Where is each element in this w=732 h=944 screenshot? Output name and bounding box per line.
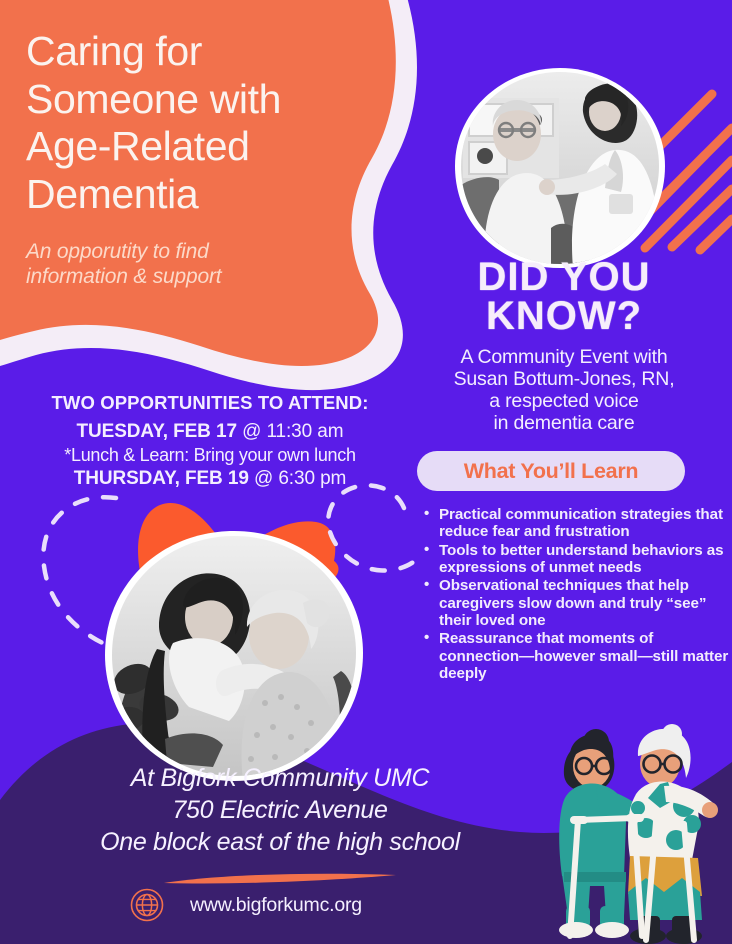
address-line-street: 750 Electric Avenue — [0, 794, 560, 826]
caregiver-and-senior-with-walker-illustration — [534, 700, 732, 944]
address-line-venue: At Bigfork Community UMC — [0, 762, 560, 794]
did-you-know-title: DID YOU KNOW? — [408, 258, 720, 336]
what-youll-learn-label: What You’ll Learn — [464, 459, 638, 484]
event-one-note: *Lunch & Learn: Bring your own lunch — [0, 445, 420, 466]
page-title: Caring for Someone with Age-Related Deme… — [26, 28, 386, 218]
orange-underline-decoration — [160, 872, 400, 886]
event-one-day: TUESDAY, FEB 17 — [77, 421, 237, 442]
event-two-line: THURSDAY, FEB 19 @ 6:30 pm — [0, 468, 420, 490]
list-item: Reassurance that moments of connection—h… — [430, 630, 732, 682]
event-two-time: @ 6:30 pm — [249, 468, 347, 489]
list-item: Practical communication strategies that … — [430, 506, 732, 541]
learn-list: Practical communication strategies that … — [412, 506, 732, 683]
headline-block: Caring for Someone with Age-Related Deme… — [26, 28, 386, 290]
list-item: Tools to better understand behaviors as … — [430, 542, 732, 577]
poster-canvas: Caring for Someone with Age-Related Deme… — [0, 0, 732, 944]
dates-heading: TWO OPPORTUNITIES TO ATTEND: — [0, 392, 420, 414]
event-two-day: THURSDAY, FEB 19 — [74, 468, 249, 489]
event-one-line: TUESDAY, FEB 17 @ 11:30 am — [0, 421, 420, 443]
poster-subtitle: An opporutity to find information & supp… — [26, 240, 386, 290]
event-one-time: @ 11:30 am — [237, 421, 344, 442]
caregiver-with-elderly-woman-photo — [105, 531, 363, 781]
what-youll-learn-badge: What You’ll Learn — [417, 451, 685, 491]
address-line-directions: One block east of the high school — [0, 826, 560, 858]
did-you-know-body: A Community Event with Susan Bottum-Jone… — [408, 346, 720, 434]
globe-icon — [130, 888, 164, 922]
nurse-with-elderly-man-photo — [455, 68, 665, 268]
dates-block: TWO OPPORTUNITIES TO ATTEND: TUESDAY, FE… — [0, 392, 420, 492]
did-you-know-block: DID YOU KNOW? A Community Event with Sus… — [408, 258, 720, 435]
address-block: At Bigfork Community UMC 750 Electric Av… — [0, 762, 560, 858]
website-url[interactable]: www.bigforkumc.org — [190, 894, 362, 917]
website-row[interactable]: www.bigforkumc.org — [130, 888, 362, 922]
list-item: Observational techniques that help careg… — [430, 577, 732, 629]
